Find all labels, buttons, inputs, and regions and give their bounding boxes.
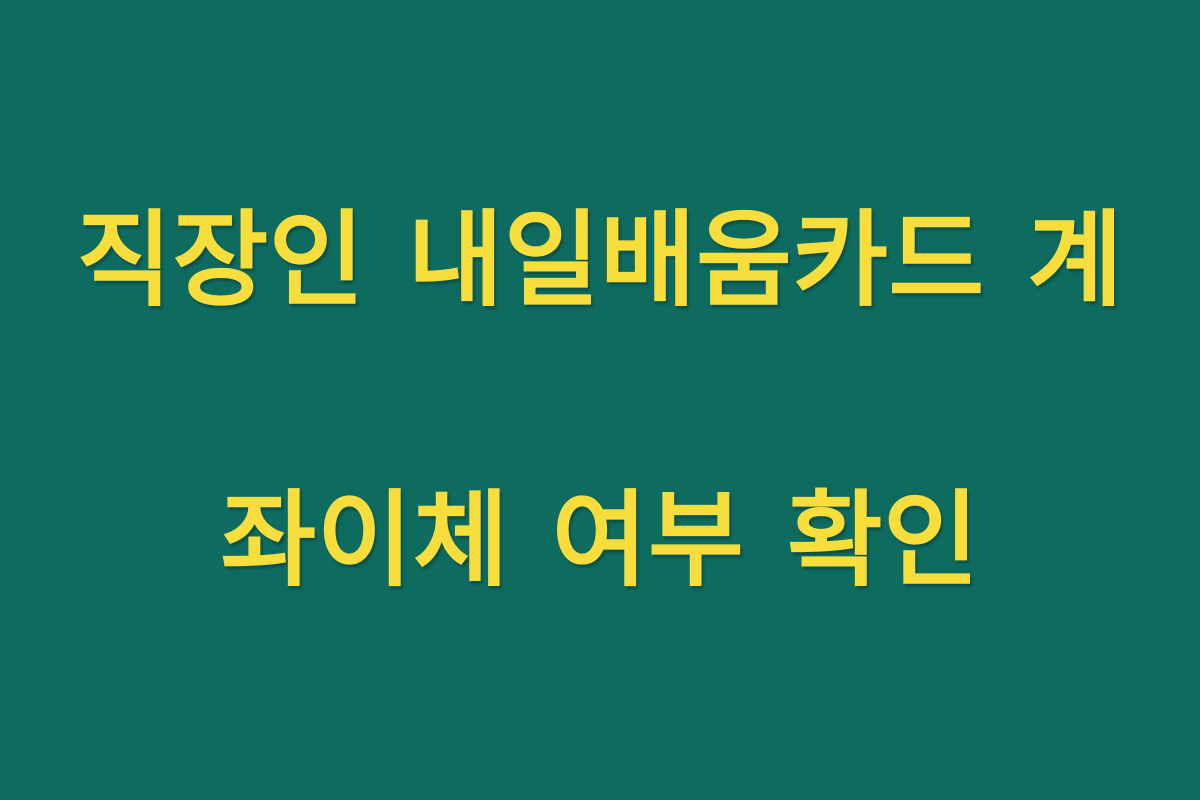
headline-line-1: 직장인 내일배움카드 계 <box>70 190 1130 330</box>
headline-line-2: 좌이체 여부 확인 <box>70 470 1130 610</box>
banner-canvas: 직장인 내일배움카드 계 좌이체 여부 확인 <box>0 0 1200 800</box>
headline-text: 직장인 내일배움카드 계 좌이체 여부 확인 <box>70 50 1130 750</box>
